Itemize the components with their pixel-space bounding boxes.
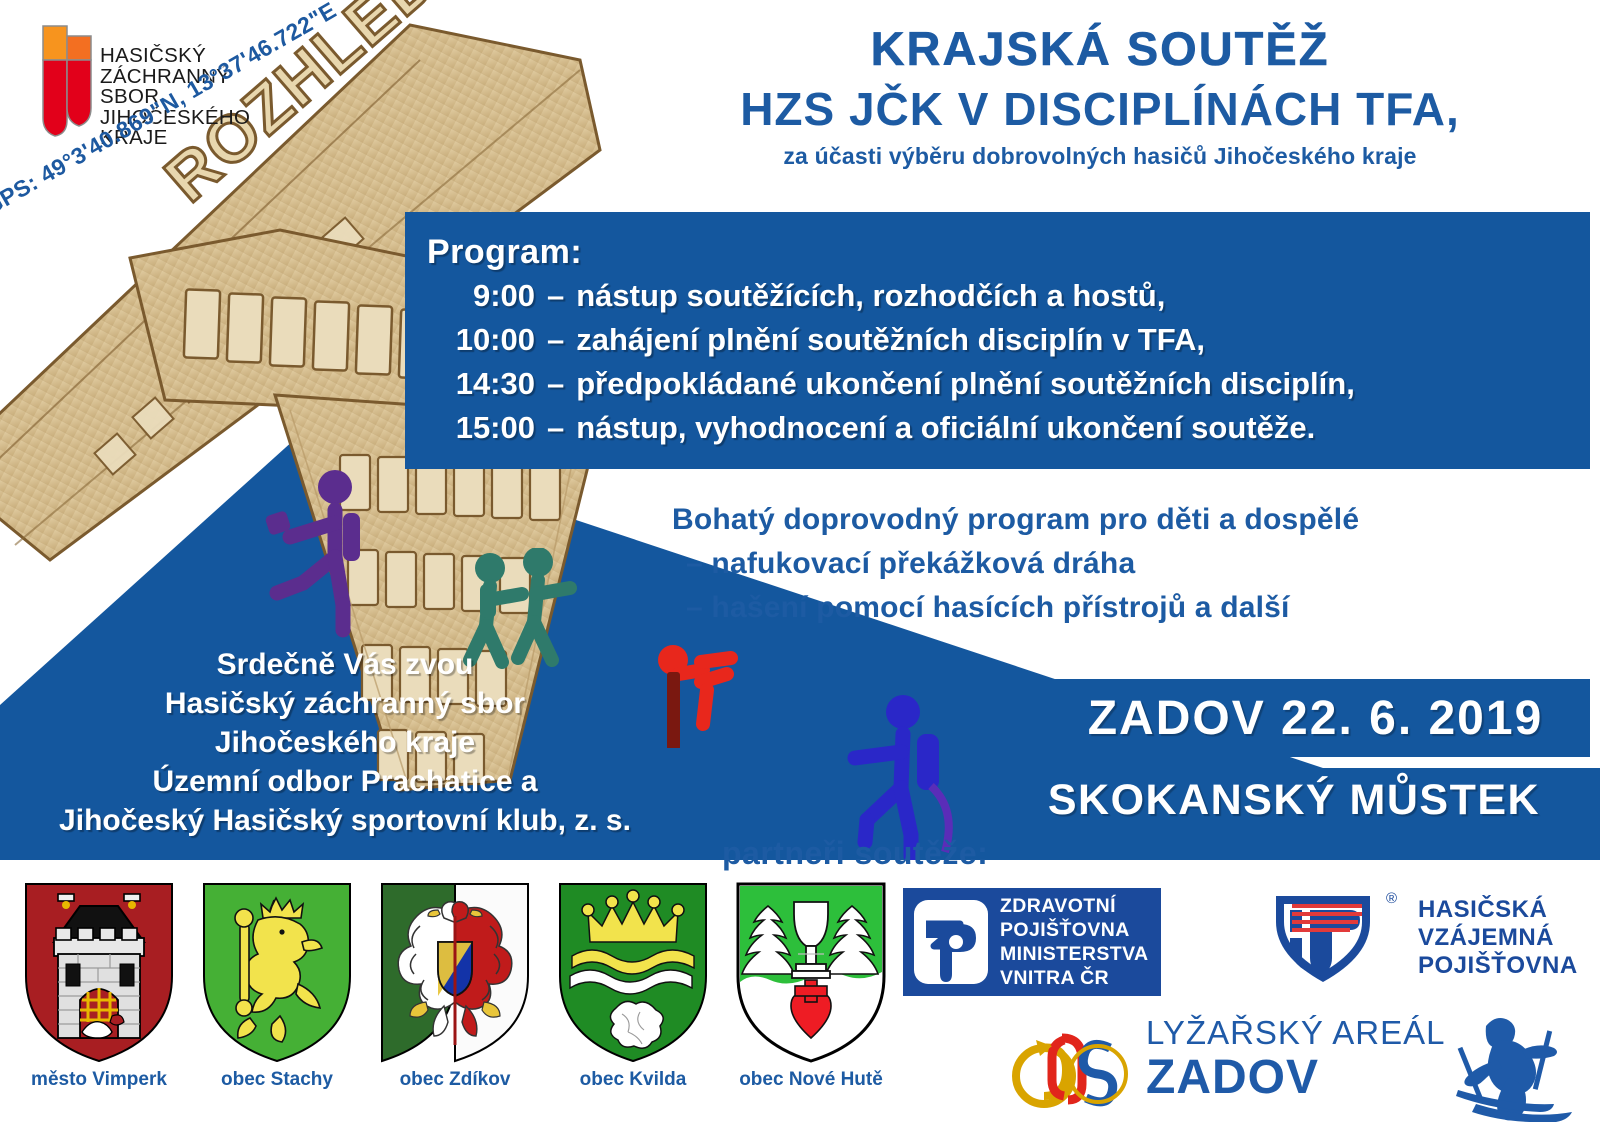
program-box: Program: 9:00 – nástup soutěžících, rozh…	[405, 212, 1590, 469]
program-item-dash: –	[535, 406, 576, 450]
poster-headline: KRAJSKÁ SOUTĚŽ HZS JČK V DISCIPLÍNÁCH TF…	[600, 20, 1600, 172]
accompanying-program: Bohatý doprovodný program pro děti a dos…	[672, 498, 1592, 630]
cus-logo-icon	[1010, 1018, 1140, 1114]
invitation-line: Územní odbor Prachatice a	[0, 762, 690, 801]
program-item-dash: –	[535, 274, 576, 318]
hzs-shield-mark	[38, 22, 96, 140]
partner-label: město Vimperk	[20, 1069, 178, 1091]
program-item-text: předpokládané ukončení plnění soutěžních…	[576, 362, 1355, 406]
partners-heading: partneři soutěže:	[722, 835, 988, 872]
invitation-line: Hasičský záchranný sbor	[0, 684, 690, 723]
nove-hute-coat-of-arms-icon	[732, 880, 890, 1065]
partner-label: obec Kvilda	[554, 1069, 712, 1091]
program-item: 15:00 – nástup, vyhodnocení a oficiální …	[427, 406, 1590, 450]
partner-label: obec Stachy	[198, 1069, 356, 1091]
partner-kvilda: obec Kvilda	[554, 880, 712, 1091]
program-item-text: zahájení plnění soutěžních disciplín v T…	[576, 318, 1205, 362]
kvilda-coat-of-arms-icon	[554, 880, 712, 1065]
municipal-coats-of-arms: město Vimperk obec Stachy	[20, 880, 900, 1110]
accompanying-item: – nafukovací překážková dráha	[672, 542, 1592, 586]
event-venue-text: SKOKANSKÝ MŮSTEK	[1048, 776, 1540, 825]
zp-logo-text: ZDRAVOTNÍ POJIŠŤOVNA MINISTERSTVA VNITRA…	[1000, 894, 1149, 990]
partner-nove-hute: obec Nové Hutě	[732, 880, 890, 1091]
invitation-line: Jihočeský Hasičský sportovní klub, z. s.	[0, 801, 690, 840]
program-item-dash: –	[535, 318, 576, 362]
invitation-line: Jihočeského kraje	[0, 723, 690, 762]
headline-line1: KRAJSKÁ SOUTĚŽ	[600, 20, 1600, 78]
event-date-text: ZADOV 22. 6. 2019	[1088, 691, 1544, 746]
stachy-coat-of-arms-icon	[198, 880, 356, 1065]
program-item-time: 15:00	[427, 406, 535, 450]
vimperk-coat-of-arms-icon	[20, 880, 178, 1065]
event-date-banner: ZADOV 22. 6. 2019	[1041, 679, 1590, 757]
program-item: 14:30 – předpokládané ukončení plnění so…	[427, 362, 1590, 406]
lyzarsky-areal-zadov-logo: LYŽAŘSKÝ AREÁL ZADOV	[1010, 1010, 1590, 1125]
headline-line2: HZS JČK V DISCIPLÍNÁCH TFA,	[600, 78, 1600, 140]
accompanying-heading: Bohatý doprovodný program pro děti a dos…	[672, 498, 1592, 542]
program-item-text: nástup, vyhodnocení a oficiální ukončení…	[576, 406, 1315, 450]
hvp-mark-icon	[1270, 884, 1380, 988]
program-item-text: nástup soutěžících, rozhodčích a hostů,	[576, 274, 1165, 318]
program-item: 10:00 – zahájení plnění soutěžních disci…	[427, 318, 1590, 362]
program-item-time: 9:00	[427, 274, 535, 318]
partner-zdikov: obec Zdíkov	[376, 880, 534, 1091]
partner-stachy: obec Stachy	[198, 880, 356, 1091]
partner-vimperk: město Vimperk	[20, 880, 178, 1091]
zdikov-coat-of-arms-icon	[376, 880, 534, 1065]
zdravotni-pojistovna-mv-cr-logo: ZDRAVOTNÍ POJIŠŤOVNA MINISTERSTVA VNITRA…	[903, 888, 1161, 996]
program-title: Program:	[427, 230, 1590, 274]
skier-icon	[1390, 1012, 1590, 1122]
figure-hammer-athlete	[255, 465, 395, 645]
invitation-line: Srdečně Vás zvou	[0, 645, 690, 684]
hvp-logo-text: HASIČSKÁ VZÁJEMNÁ POJIŠŤOVNA	[1418, 896, 1578, 980]
accompanying-item: – hašení pomocí hasících přístrojů a dal…	[672, 586, 1592, 630]
headline-subtitle: za účasti výběru dobrovolných hasičů Jih…	[600, 140, 1600, 172]
program-item: 9:00 – nástup soutěžících, rozhodčích a …	[427, 274, 1590, 318]
program-item-time: 10:00	[427, 318, 535, 362]
event-venue-banner: SKOKANSKÝ MŮSTEK	[988, 768, 1600, 832]
partner-label: obec Zdíkov	[376, 1069, 534, 1091]
invitation-block: Srdečně Vás zvou Hasičský záchranný sbor…	[0, 645, 690, 840]
partner-label: obec Nové Hutě	[732, 1069, 890, 1091]
hasicska-vzajemna-pojistovna-logo: ® HASIČSKÁ VZÁJEMNÁ POJIŠŤOVNA	[1270, 880, 1590, 1000]
registered-trademark-icon: ®	[1386, 890, 1397, 907]
program-item-dash: –	[535, 362, 576, 406]
program-item-time: 14:30	[427, 362, 535, 406]
zp-mark-icon	[912, 898, 990, 986]
